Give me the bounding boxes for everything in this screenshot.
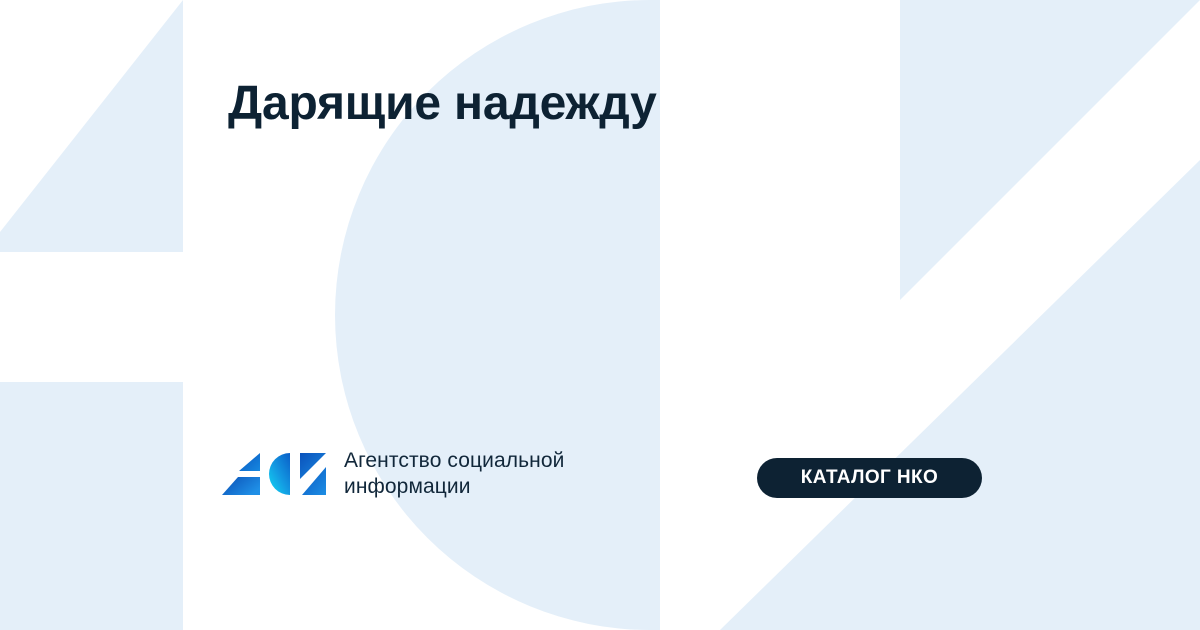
page-title: Дарящие надежду [228, 76, 1048, 131]
asi-logo-icon [222, 449, 330, 499]
catalog-nko-button[interactable]: КАТАЛОГ НКО [757, 458, 982, 498]
social-share-card: Дарящие надежду [0, 0, 1200, 630]
watermark-letter-a [0, 0, 183, 630]
brand-lockup: Агентство социальной информации [222, 448, 564, 500]
brand-name: Агентство социальной информации [344, 448, 564, 500]
